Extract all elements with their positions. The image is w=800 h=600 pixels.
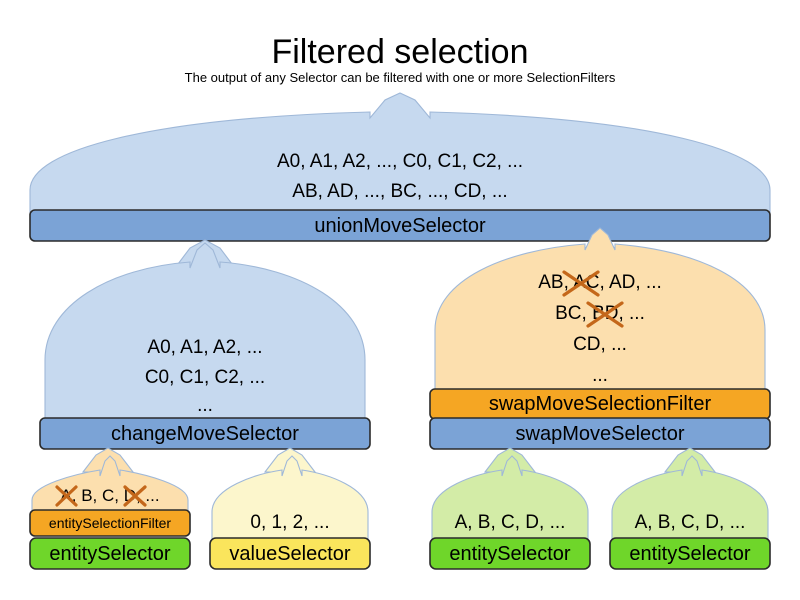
page-title: Filtered selection [271, 33, 528, 71]
entity-selector-filtered-label: entitySelector [49, 543, 171, 565]
swap-move-selector-node[interactable]: AB, AC, AD, ... BC, BD, ... CD, ... ... … [430, 228, 770, 449]
change-dome-shape [45, 243, 365, 420]
union-output-line-1: A0, A1, A2, ..., C0, C1, C2, ... [277, 151, 523, 172]
entity-selector-swap-left-node[interactable]: A, B, C, D, ... entitySelector [430, 456, 590, 569]
swap-output-line-2: BC, BD, ... [555, 303, 645, 324]
swap-output-line-4: ... [592, 365, 608, 386]
swap-output-line-1: AB, AC, AD, ... [538, 272, 662, 293]
change-output-line-3: ... [197, 395, 213, 416]
swap-move-selector-label: swapMoveSelector [516, 423, 685, 445]
entity-selector-swap-right-label: entitySelector [629, 543, 751, 565]
change-move-selector-node[interactable]: A0, A1, A2, ... C0, C1, C2, ... ... chan… [40, 243, 370, 449]
page-subtitle: The output of any Selector can be filter… [185, 70, 616, 85]
entity-swap-right-output-line-1: A, B, C, D, ... [635, 512, 746, 533]
filtered-selection-diagram: Filtered selection The output of any Sel… [0, 0, 800, 600]
entity-selector-filtered-node[interactable]: A, B, C, D, ... entitySelectionFilter en… [30, 456, 190, 569]
diagram-canvas: Filtered selection The output of any Sel… [0, 0, 800, 600]
entity-selector-swap-right-node[interactable]: A, B, C, D, ... entitySelector [610, 456, 770, 569]
entity-selection-filter-label: entitySelectionFilter [49, 515, 172, 531]
swap-output-line-3: CD, ... [573, 334, 627, 355]
entity-selector-swap-left-label: entitySelector [449, 543, 571, 565]
value-selector-label: valueSelector [229, 543, 351, 565]
entity-swap-left-output-line-1: A, B, C, D, ... [455, 512, 566, 533]
change-output-line-1: A0, A1, A2, ... [147, 337, 262, 358]
change-output-line-2: C0, C1, C2, ... [145, 367, 265, 388]
change-move-selector-label: changeMoveSelector [111, 423, 299, 445]
value-output-line-1: 0, 1, 2, ... [250, 512, 329, 533]
union-output-line-2: AB, AD, ..., BC, ..., CD, ... [292, 181, 507, 202]
union-move-selector-label: unionMoveSelector [314, 215, 486, 237]
union-move-selector-node[interactable]: A0, A1, A2, ..., C0, C1, C2, ... AB, AD,… [30, 93, 770, 241]
value-selector-node[interactable]: 0, 1, 2, ... valueSelector [210, 456, 370, 569]
swap-move-selection-filter-label: swapMoveSelectionFilter [489, 393, 712, 415]
